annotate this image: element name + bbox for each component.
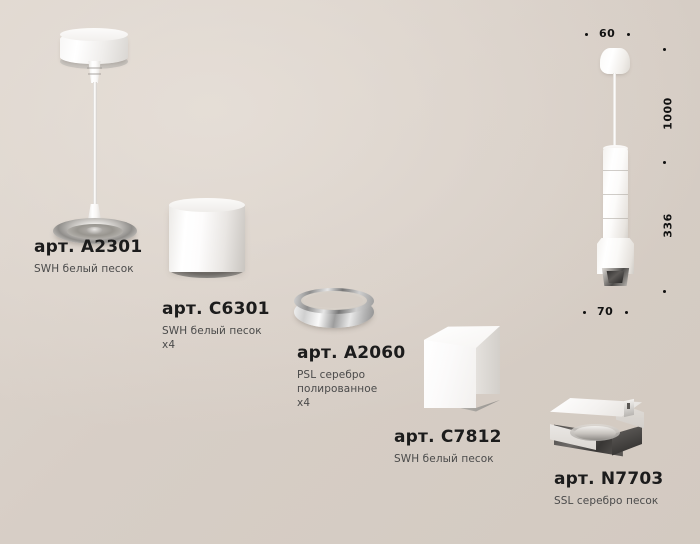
dimension-top-width: 60 (599, 27, 615, 40)
dimension-fixture-height: 336 (662, 211, 675, 241)
dim-dot-bottom-left (583, 311, 586, 314)
finish-description: PSL серебро полированное (297, 368, 405, 396)
strain-relief-ring (87, 67, 102, 69)
mounting-disc-hub (86, 227, 103, 234)
product-specification-sheet: арт. A2301 SWH белый песок арт. C6301 SW… (0, 0, 700, 544)
connector-pin (627, 403, 630, 409)
quantity: x4 (162, 338, 270, 352)
dim-dot-top-left (585, 33, 588, 36)
dim-dot-bottom-right (625, 311, 628, 314)
article-number: арт. N7703 (554, 470, 663, 489)
assembled-pendant-diagram (588, 48, 644, 288)
product-image-c6301 (169, 198, 249, 288)
article-number: арт. C6301 (162, 300, 270, 319)
dim-dot-vert-top (663, 48, 666, 51)
assembly-canopy (600, 48, 630, 74)
label-c7812: арт. C7812 SWH белый песок (394, 428, 502, 466)
quantity: x4 (297, 396, 405, 410)
article-number: арт. A2301 (34, 238, 142, 257)
strain-relief-ring (88, 73, 101, 75)
assembly-segment-seam (603, 218, 628, 219)
product-image-a2301 (40, 28, 150, 233)
dim-dot-top-right (627, 33, 630, 36)
assembly-suspension-rod (613, 73, 616, 151)
finish-description: SWH белый песок (162, 324, 270, 338)
suspension-cable (93, 82, 97, 210)
article-number: арт. C7812 (394, 428, 502, 447)
ring-aperture (305, 293, 363, 308)
label-c6301: арт. C6301 SWH белый песок x4 (162, 300, 270, 352)
canopy-top (60, 28, 128, 41)
cylinder-top (169, 198, 245, 212)
assembly-segment-seam (603, 170, 628, 171)
label-a2060: арт. A2060 PSL серебро полированное x4 (297, 344, 405, 410)
finish-description: SWH белый песок (34, 262, 142, 276)
cube-front-face (424, 340, 476, 408)
finish-description: SSL серебро песок (554, 494, 663, 508)
label-a2301: арт. A2301 SWH белый песок (34, 238, 142, 276)
dimension-suspension-length: 1000 (662, 96, 675, 132)
lens (574, 426, 616, 440)
product-image-n7703 (548, 398, 648, 468)
product-image-a2060 (294, 288, 378, 336)
assembly-tube-body (603, 148, 628, 244)
article-number: арт. A2060 (297, 344, 405, 363)
dim-dot-vert-bottom (663, 290, 666, 293)
assembly-segment-seam (603, 194, 628, 195)
dimension-bottom-width: 70 (597, 305, 613, 318)
cylinder-body (169, 204, 245, 272)
dim-dot-vert-mid (663, 161, 666, 164)
label-n7703: арт. N7703 SSL серебро песок (554, 470, 663, 508)
product-image-c7812 (424, 318, 506, 422)
finish-description: SWH белый песок (394, 452, 502, 466)
